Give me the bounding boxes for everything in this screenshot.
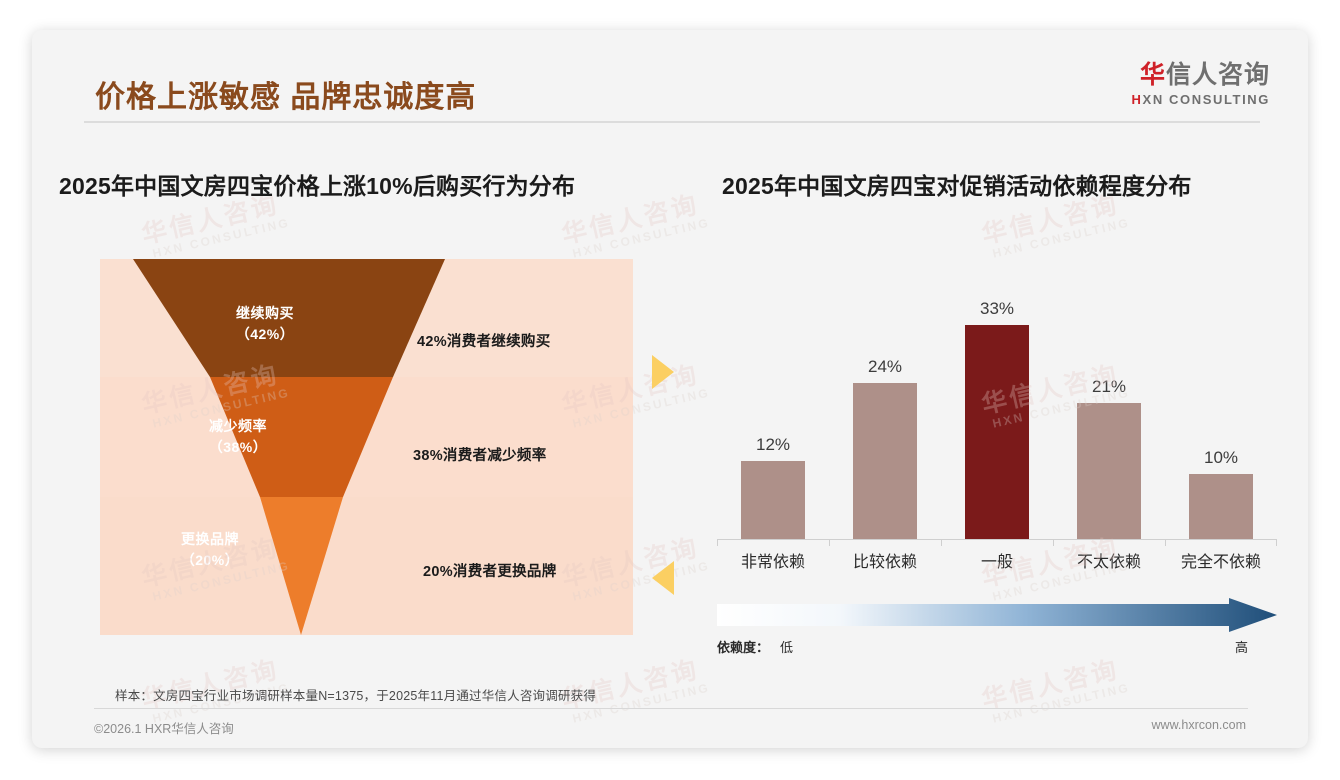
funnel-segment-switch[interactable] bbox=[260, 497, 343, 635]
watermark-en: HXN CONSULTING bbox=[991, 681, 1131, 726]
bar-value-label: 33% bbox=[980, 299, 1014, 319]
bar-category-label: 完全不依赖 bbox=[1165, 548, 1277, 572]
logo-en-accent: H bbox=[1132, 92, 1143, 107]
bar-category-label: 一般 bbox=[941, 548, 1053, 572]
right-chart-title: 2025年中国文房四宝对促销活动依赖程度分布 bbox=[722, 167, 1192, 201]
watermark-cn: 华信人咨询 bbox=[559, 189, 708, 249]
header-divider bbox=[84, 121, 1260, 123]
page-title: 价格上涨敏感 品牌忠诚度高 bbox=[95, 72, 476, 116]
gradient-arrow-icon bbox=[717, 598, 1277, 632]
bar-非常依赖[interactable]: 12% bbox=[741, 461, 805, 539]
bar-column: 24% 比较依赖 bbox=[829, 305, 941, 539]
bar-value-label: 10% bbox=[1204, 448, 1238, 468]
bar-value-label: 24% bbox=[868, 357, 902, 377]
watermark: 华信人咨询 HXN CONSULTING bbox=[559, 189, 711, 262]
bar-column: 12% 非常依赖 bbox=[717, 305, 829, 539]
axis-tick bbox=[1053, 539, 1054, 546]
screenshot-root: 华信人咨询 HXN CONSULTING 华信人咨询 HXN CONSULTIN… bbox=[0, 0, 1340, 780]
funnel-label-line-1: （42%） bbox=[236, 326, 295, 342]
watermark-en: HXN CONSULTING bbox=[151, 216, 291, 261]
copyright-text: ©2026.1 HXR华信人咨询 bbox=[94, 718, 234, 737]
bar-比较依赖[interactable]: 24% bbox=[853, 383, 917, 539]
logo-cn-text: 华信人咨询 bbox=[1132, 62, 1270, 90]
axis-tick bbox=[941, 539, 942, 546]
watermark-en: HXN CONSULTING bbox=[991, 216, 1131, 261]
logo-en-rest: XN CONSULTING bbox=[1143, 92, 1270, 107]
logo-en-text: HXN CONSULTING bbox=[1132, 92, 1270, 107]
footer-divider bbox=[94, 708, 1248, 709]
bar-category-label: 非常依赖 bbox=[717, 548, 829, 572]
funnel-label-reduce: 减少频率 （38%） bbox=[209, 416, 268, 458]
website-link[interactable]: www.hxrcon.com bbox=[1152, 718, 1246, 732]
watermark-cn: 华信人咨询 bbox=[979, 654, 1128, 714]
bar-category-label: 比较依赖 bbox=[829, 548, 941, 572]
bar-一般[interactable]: 33% bbox=[965, 325, 1029, 540]
funnel-label-line-0: 继续购买 bbox=[236, 305, 294, 321]
bar-完全不依赖[interactable]: 10% bbox=[1189, 474, 1253, 539]
funnel-label-switch: 更换品牌 （20%） bbox=[181, 529, 240, 571]
dependency-gradient-legend: 依赖度： 低 高 bbox=[717, 598, 1277, 660]
funnel-label-line-0: 更换品牌 bbox=[181, 531, 239, 547]
funnel-annotation-continue: 42%消费者继续购买 bbox=[417, 330, 551, 351]
slide-card: 华信人咨询 HXN CONSULTING 华信人咨询 HXN CONSULTIN… bbox=[32, 30, 1308, 748]
bar-column: 33% 一般 bbox=[941, 305, 1053, 539]
arrow-left-icon bbox=[652, 561, 674, 595]
legend-high-label: 高 bbox=[1235, 637, 1248, 656]
bar-category-label: 不太依赖 bbox=[1053, 548, 1165, 572]
watermark: 华信人咨询 HXN CONSULTING bbox=[979, 654, 1131, 727]
funnel-chart: 继续购买 （42%） 减少频率 （38%） 更换品牌 （20%） 42%消费者继… bbox=[100, 259, 633, 635]
legend-low-label: 低 bbox=[780, 637, 793, 656]
arrow-right-icon bbox=[652, 355, 674, 389]
company-logo: 华信人咨询 HXN CONSULTING bbox=[1132, 62, 1270, 107]
dependency-bar-chart: 12% 非常依赖 24% 比较依赖 33% 一般 21% 不 bbox=[717, 305, 1277, 567]
bar-column: 21% 不太依赖 bbox=[1053, 305, 1165, 539]
funnel-label-line-1: （20%） bbox=[181, 552, 240, 568]
watermark-en: HXN CONSULTING bbox=[571, 216, 711, 261]
legend-title: 依赖度： bbox=[717, 637, 769, 656]
axis-tick bbox=[829, 539, 830, 546]
axis-tick bbox=[717, 539, 718, 546]
funnel-label-continue: 继续购买 （42%） bbox=[236, 303, 295, 345]
funnel-annotation-reduce: 38%消费者减少频率 bbox=[413, 444, 547, 465]
bar-column: 10% 完全不依赖 bbox=[1165, 305, 1277, 539]
funnel-annotation-switch: 20%消费者更换品牌 bbox=[423, 560, 557, 581]
bar-value-label: 12% bbox=[756, 435, 790, 455]
axis-tick bbox=[1165, 539, 1166, 546]
x-axis-line bbox=[717, 539, 1277, 540]
bar-value-label: 21% bbox=[1092, 377, 1126, 397]
sample-note: 样本：文房四宝行业市场调研样本量N=1375，于2025年11月通过华信人咨询调… bbox=[115, 685, 596, 704]
left-chart-title: 2025年中国文房四宝价格上涨10%后购买行为分布 bbox=[59, 167, 575, 201]
funnel-label-line-1: （38%） bbox=[209, 439, 268, 455]
bar-不太依赖[interactable]: 21% bbox=[1077, 403, 1141, 540]
funnel-label-line-0: 减少频率 bbox=[209, 418, 267, 434]
axis-tick bbox=[1276, 539, 1277, 546]
logo-cn-rest: 信人咨询 bbox=[1166, 61, 1270, 89]
logo-cn-accent: 华 bbox=[1140, 61, 1166, 89]
